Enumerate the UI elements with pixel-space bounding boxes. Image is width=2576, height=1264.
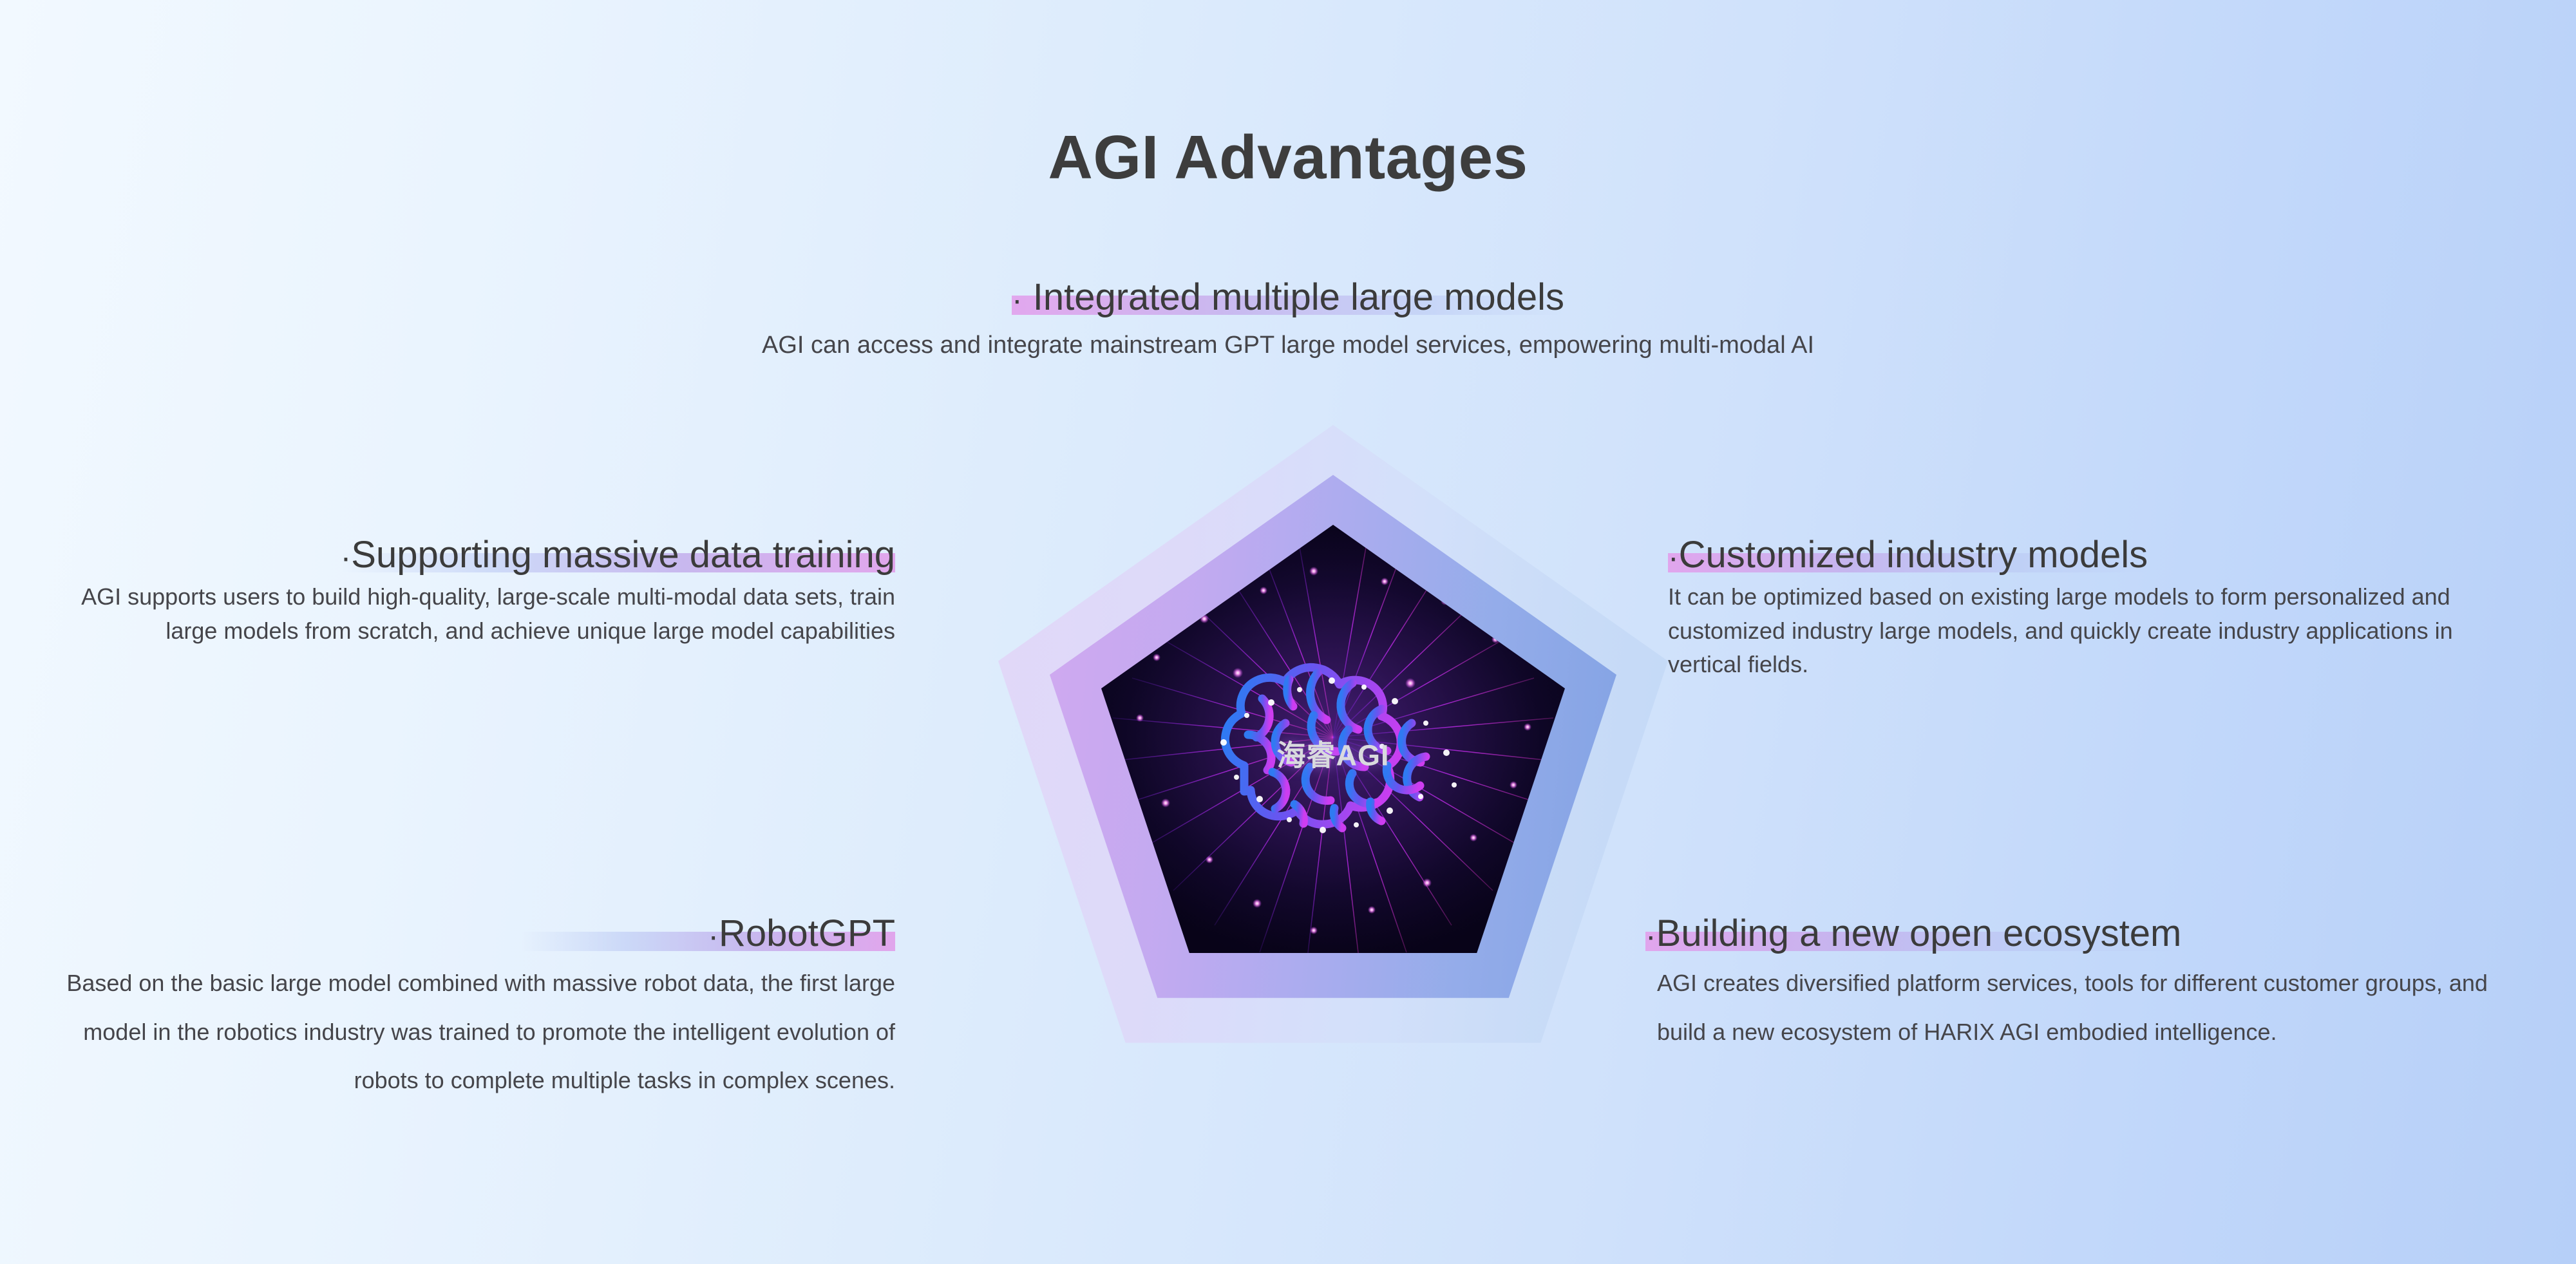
advantage-block-supporting-massive-data-training: ·Supporting massive data training AGI su… (39, 534, 895, 648)
advantage-heading-integrated-multiple-large-models: · Integrated multiple large models (1012, 277, 1564, 319)
bullet-icon: · (708, 918, 719, 954)
advantage-block-robotgpt: ·RobotGPT Based on the basic large model… (39, 913, 895, 1105)
agi-pentagon-graphic: 海睿AGI (995, 386, 1671, 1114)
advantage-body-robotgpt: Based on the basic large model combined … (39, 959, 895, 1105)
advantage-heading-robotgpt: ·RobotGPT (708, 913, 895, 955)
advantage-block-integrated-multiple-large-models: · Integrated multiple large models AGI c… (0, 277, 2576, 363)
advantage-body-supporting-massive-data-training: AGI supports users to build high-quality… (39, 580, 895, 648)
advantage-block-building-a-new-open-ecosystem: ·Building a new open ecosystem AGI creat… (1645, 913, 2534, 1056)
advantage-heading-customized-industry-models: ·Customized industry models (1668, 534, 2148, 576)
heading-text: Supporting massive data training (351, 534, 895, 576)
advantage-body-customized-industry-models: It can be optimized based on existing la… (1668, 580, 2531, 682)
advantage-body-building-a-new-open-ecosystem: AGI creates diversified platform service… (1645, 959, 2534, 1056)
bullet-icon: · (1668, 540, 1679, 576)
heading-text: Customized industry models (1679, 534, 2148, 576)
heading-text: Integrated multiple large models (1033, 276, 1564, 318)
advantage-heading-building-a-new-open-ecosystem: ·Building a new open ecosystem (1645, 913, 2181, 955)
advantage-body-integrated-multiple-large-models: AGI can access and integrate mainstream … (0, 328, 2576, 363)
advantage-block-customized-industry-models: ·Customized industry models It can be op… (1668, 534, 2531, 682)
bullet-icon: · (1645, 918, 1656, 954)
heading-text: Building a new open ecosystem (1656, 912, 2182, 954)
bullet-icon: · (341, 540, 352, 576)
advantage-heading-supporting-massive-data-training: ·Supporting massive data training (341, 534, 895, 576)
bullet-icon: · (1012, 282, 1023, 318)
page-title: AGI Advantages (0, 122, 2576, 193)
brand-center-label: 海睿AGI (1276, 731, 1389, 773)
slide-canvas: AGI Advantages (0, 0, 2576, 1264)
heading-text: RobotGPT (719, 912, 895, 954)
